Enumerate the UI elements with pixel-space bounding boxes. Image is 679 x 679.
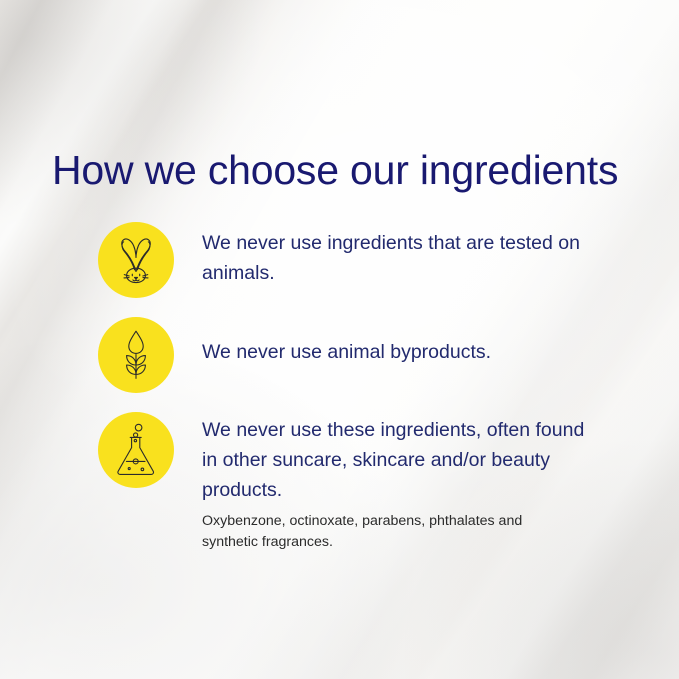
benefit-note: Oxybenzone, octinoxate, parabens, phthal… xyxy=(202,511,562,553)
benefit-item-cruelty-free: We never use ingredients that are tested… xyxy=(98,222,638,298)
benefit-icon-badge xyxy=(98,412,174,488)
benefit-text-wrap: We never use ingredients that are tested… xyxy=(174,222,602,288)
benefit-icon-badge xyxy=(98,317,174,393)
benefit-text: We never use animal byproducts. xyxy=(202,337,491,367)
erlenmeyer-flask-icon xyxy=(113,423,159,477)
benefit-item-no-animal-byproducts: We never use animal byproducts. xyxy=(98,317,638,393)
benefits-list: We never use ingredients that are tested… xyxy=(98,222,638,553)
plant-sprig-icon xyxy=(114,329,158,381)
benefit-icon-badge xyxy=(98,222,174,298)
benefit-text-wrap: We never use animal byproducts. xyxy=(174,317,491,367)
benefit-text: We never use these ingredients, often fo… xyxy=(202,415,602,505)
benefit-item-no-harsh-ingredients: We never use these ingredients, often fo… xyxy=(98,412,638,553)
benefit-text: We never use ingredients that are tested… xyxy=(202,228,602,288)
ingredient-principles-graphic: How we choose our ingredients xyxy=(0,0,679,679)
benefit-text-wrap: We never use these ingredients, often fo… xyxy=(174,412,602,553)
page-title: How we choose our ingredients xyxy=(52,147,618,194)
bunny-heart-ears-icon xyxy=(112,235,160,285)
